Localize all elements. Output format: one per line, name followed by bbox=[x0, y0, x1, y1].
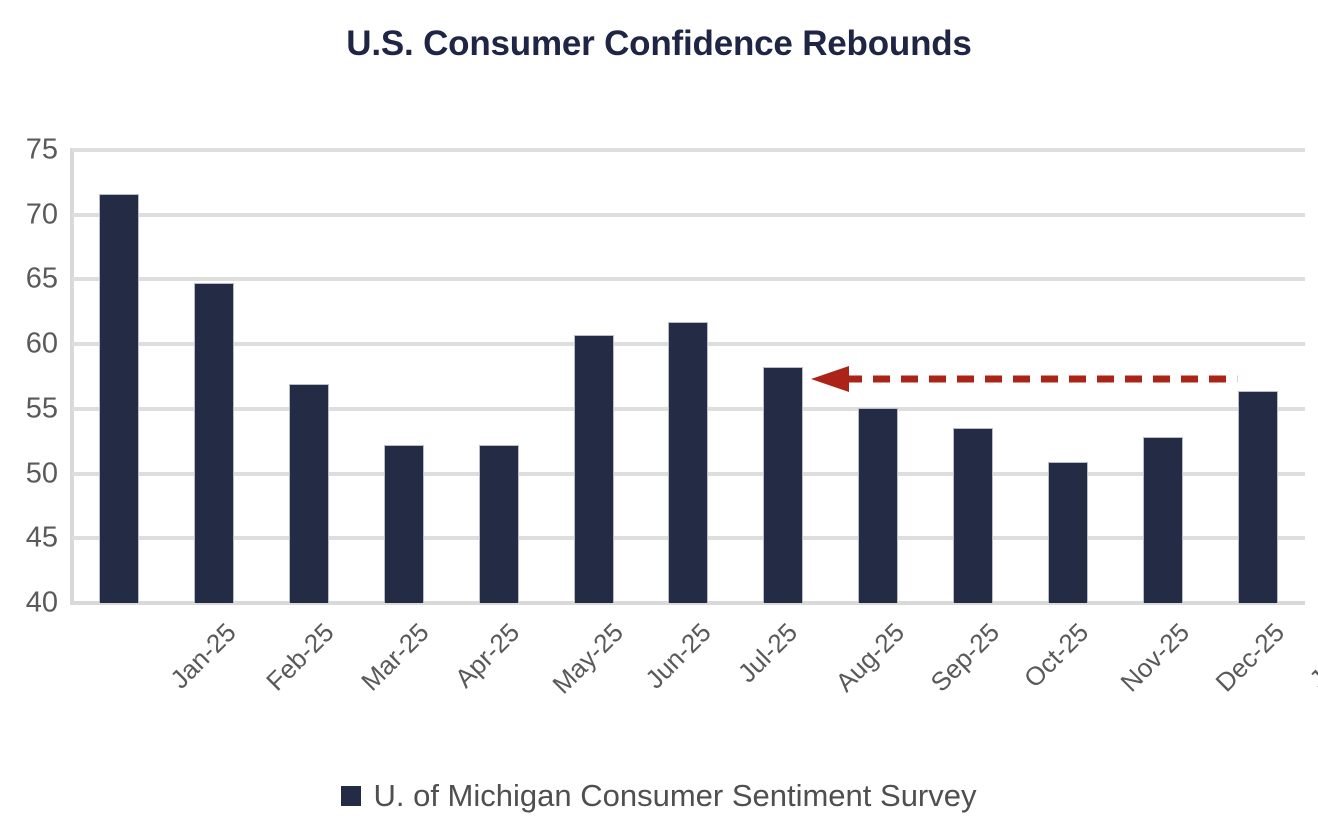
rebound-arrow-annotation bbox=[811, 366, 1237, 392]
bar[interactable] bbox=[574, 335, 614, 603]
x-axis-tick-label: Jun-25 bbox=[639, 617, 717, 695]
x-axis-tick-label: Sep-25 bbox=[925, 617, 1006, 698]
bar[interactable] bbox=[1238, 391, 1278, 603]
bar-slot bbox=[641, 150, 736, 603]
arrow-left-dashed-icon bbox=[811, 366, 1237, 392]
y-axis-tick-label: 70 bbox=[0, 198, 58, 231]
bar[interactable] bbox=[384, 445, 424, 603]
bar[interactable] bbox=[194, 283, 234, 603]
x-axis-tick-labels: Jan-25Feb-25Mar-25Apr-25May-25Jun-25Jul-… bbox=[72, 603, 1305, 753]
bar-slot bbox=[357, 150, 452, 603]
x-axis-tick-label: Oct-25 bbox=[1018, 617, 1095, 694]
bar[interactable] bbox=[99, 194, 139, 603]
bar[interactable] bbox=[858, 408, 898, 603]
bar-slot bbox=[72, 150, 167, 603]
x-axis-tick-label: Jan-25 bbox=[165, 617, 243, 695]
bar[interactable] bbox=[1143, 437, 1183, 603]
bar-slot bbox=[262, 150, 357, 603]
x-axis-tick-label: Aug-25 bbox=[830, 617, 911, 698]
y-axis-tick-label: 50 bbox=[0, 457, 58, 490]
y-axis-tick-label: 65 bbox=[0, 263, 58, 296]
y-axis-tick-label: 45 bbox=[0, 522, 58, 555]
x-axis-tick-label: Nov-25 bbox=[1114, 617, 1195, 698]
bar[interactable] bbox=[479, 445, 519, 603]
chart-title: U.S. Consumer Confidence Rebounds bbox=[0, 24, 1318, 64]
bar[interactable] bbox=[1048, 462, 1088, 603]
bar[interactable] bbox=[289, 384, 329, 603]
x-axis-tick-label: Mar-25 bbox=[355, 617, 435, 697]
chart-legend: U. of Michigan Consumer Sentiment Survey bbox=[0, 778, 1318, 814]
x-axis-tick-label: Jan-26 bbox=[1303, 617, 1318, 695]
bar[interactable] bbox=[763, 367, 803, 603]
bar-slot bbox=[546, 150, 641, 603]
x-axis-tick-label: Jul-25 bbox=[731, 617, 803, 689]
legend-label[interactable]: U. of Michigan Consumer Sentiment Survey bbox=[373, 778, 976, 814]
x-axis-tick-label: Dec-25 bbox=[1209, 617, 1290, 698]
y-axis-tick-labels: 7570656055504540 bbox=[0, 150, 60, 603]
legend-swatch bbox=[341, 786, 361, 806]
y-axis-tick-label: 60 bbox=[0, 328, 58, 361]
x-axis-tick-label: May-25 bbox=[546, 617, 629, 700]
bar-slot bbox=[451, 150, 546, 603]
y-axis-tick-label: 40 bbox=[0, 587, 58, 620]
bar[interactable] bbox=[953, 428, 993, 603]
bar[interactable] bbox=[668, 322, 708, 603]
chart-container: U.S. Consumer Confidence Rebounds 757065… bbox=[0, 0, 1318, 834]
x-axis-tick-label: Feb-25 bbox=[260, 617, 340, 697]
y-axis-tick-label: 55 bbox=[0, 392, 58, 425]
y-axis-tick-label: 75 bbox=[0, 134, 58, 167]
bar-slot bbox=[167, 150, 262, 603]
x-axis-tick-label: Apr-25 bbox=[449, 617, 526, 694]
